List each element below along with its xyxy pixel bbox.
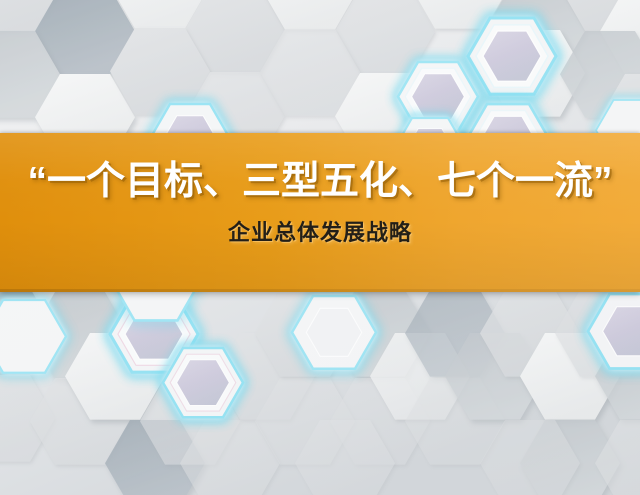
presentation-slide: “一个目标、三型五化、七个一流” 企业总体发展战略 [0, 0, 640, 495]
title-banner: “一个目标、三型五化、七个一流” 企业总体发展战略 [0, 133, 640, 292]
banner-content: “一个目标、三型五化、七个一流” 企业总体发展战略 [0, 133, 640, 292]
page-subtitle: 企业总体发展战略 [228, 221, 412, 245]
page-title: “一个目标、三型五化、七个一流” [27, 162, 612, 203]
